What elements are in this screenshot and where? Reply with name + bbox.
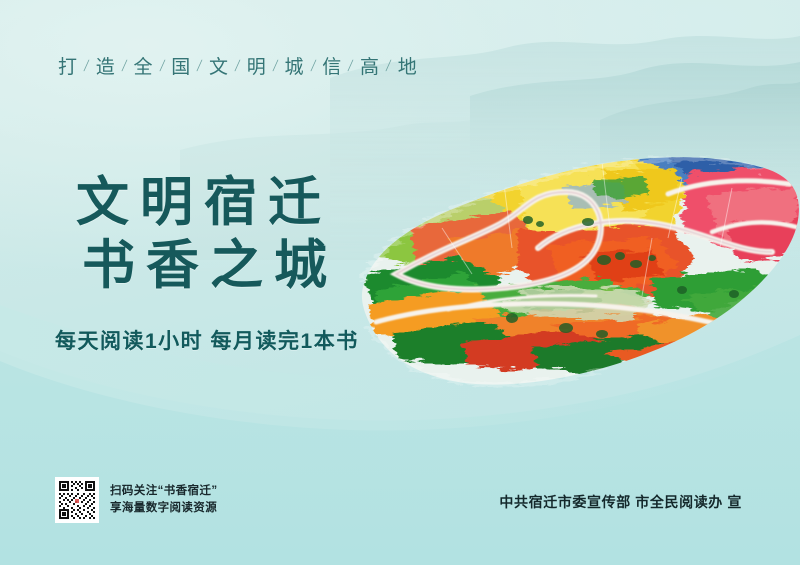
top-slogan-char: 信 — [321, 52, 343, 79]
top-slogan-char: 高 — [359, 52, 381, 79]
top-slogan-separator: / — [380, 56, 398, 76]
top-slogan-char: 文 — [208, 52, 230, 79]
qr-caption: 扫码关注“书香宿迁” 享海量数字阅读资源 — [110, 483, 218, 517]
qr-caption-line-1: 扫码关注“书香宿迁” — [110, 483, 218, 500]
top-slogan-separator: / — [267, 56, 285, 76]
page-title: 文明宿迁 书香之城 — [76, 172, 338, 298]
qr-block[interactable]: 扫码关注“书香宿迁” 享海量数字阅读资源 — [55, 477, 218, 523]
sub-slogan: 每天阅读1小时 每月读完1本书 — [55, 325, 359, 355]
top-slogan-char: 打 — [57, 52, 79, 79]
headline-line-2: 书香之城 — [76, 235, 338, 298]
top-slogan-separator: / — [304, 56, 322, 76]
aerial-farmland-photo — [352, 128, 800, 400]
qr-caption-line-2: 享海量数字阅读资源 — [110, 500, 218, 517]
credit-text: 中共宿迁市委宣传部 市全民阅读办 宣 — [499, 492, 742, 512]
qr-code-icon[interactable] — [55, 477, 99, 523]
top-slogan-char: 全 — [133, 52, 155, 79]
top-slogan-separator: / — [78, 56, 96, 76]
top-slogan-separator: / — [191, 56, 209, 76]
poster-canvas: 打/造/全/国/文/明/城/信/高/地 文明宿迁 书香之城 每天阅读1小时 每月… — [0, 0, 800, 565]
top-slogan-char: 明 — [246, 52, 268, 79]
top-slogan-char: 国 — [170, 52, 192, 79]
top-slogan-char: 地 — [397, 52, 419, 79]
top-slogan-separator: / — [229, 56, 247, 76]
top-slogan-char: 城 — [284, 52, 306, 79]
top-slogan-separator: / — [116, 56, 134, 76]
top-slogan-separator: / — [342, 56, 360, 76]
headline-line-1: 文明宿迁 — [76, 172, 338, 235]
top-slogan: 打/造/全/国/文/明/城/信/高/地 — [57, 52, 419, 79]
top-slogan-char: 造 — [95, 52, 117, 79]
top-slogan-separator: / — [153, 56, 171, 76]
